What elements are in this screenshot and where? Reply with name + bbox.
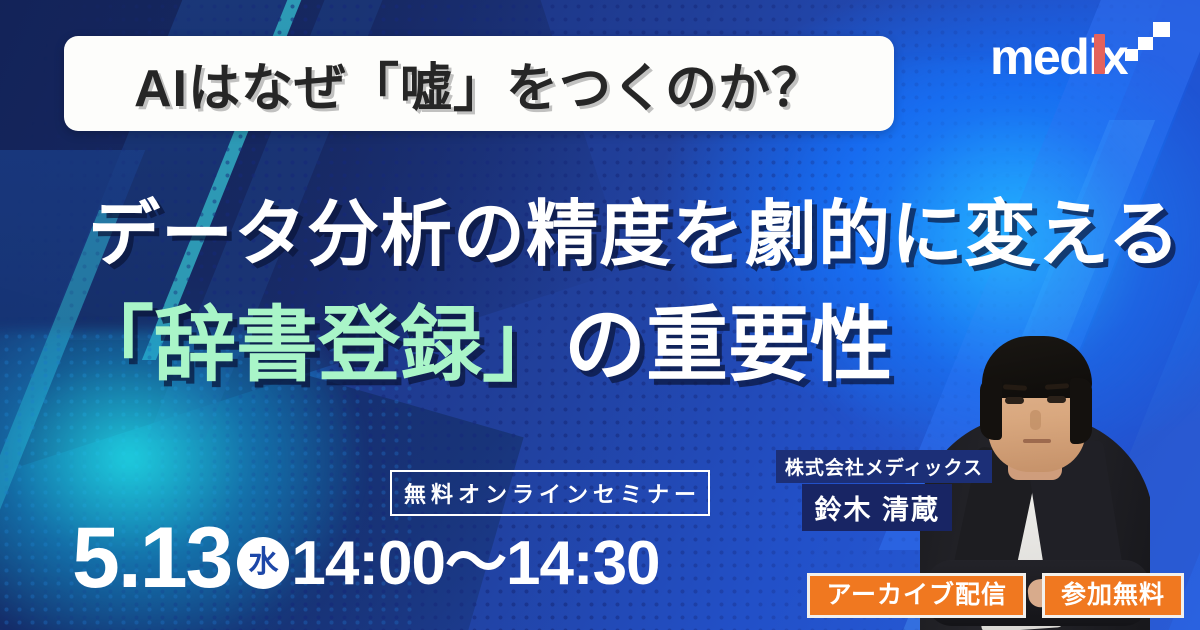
- speaker-name-label: 鈴木 清蔵: [802, 484, 952, 531]
- speaker-nose: [1030, 410, 1041, 430]
- weekday-badge: 水: [237, 537, 289, 589]
- event-date: 5.13: [72, 515, 231, 601]
- headline-line-3-suffix: の重要性: [564, 300, 892, 391]
- logo-wordmark: medix: [990, 32, 1127, 82]
- badge-row: アーカイブ配信 参加無料: [807, 573, 1184, 618]
- speaker-hair-side-left: [980, 378, 1002, 440]
- logo-i-accent-bar: [1094, 34, 1105, 74]
- speaker-hair-side-right: [1070, 378, 1092, 444]
- title-badge-text: AIはなぜ「嘘」をつくのか？: [134, 46, 824, 121]
- headline-line-2: データ分析の精度を劇的に変える: [88, 175, 1181, 280]
- event-date-time-row: 5.13 水 14:00〜14:30: [72, 515, 660, 601]
- logo-square-3: [1125, 49, 1138, 61]
- seminar-type-box: 無料オンラインセミナー: [390, 470, 710, 516]
- logo-square-1: [1153, 22, 1170, 37]
- webinar-banner: medix AIはなぜ「嘘」をつくのか？ データ分析の精度を劇的に変える 「辞書…: [0, 0, 1200, 630]
- seminar-type-label: 無料オンラインセミナー: [399, 477, 701, 509]
- logo-square-2: [1138, 37, 1153, 50]
- logo-stair-squares-icon: [1114, 22, 1170, 64]
- title-badge: AIはなぜ「嘘」をつくのか？: [64, 36, 894, 131]
- free-entry-badge: 参加無料: [1042, 573, 1184, 618]
- speaker-eye-right: [1047, 396, 1066, 403]
- archive-badge: アーカイブ配信: [807, 573, 1026, 618]
- speaker-mouth: [1023, 439, 1051, 443]
- headline-highlight-term: 「辞書登録」: [72, 300, 564, 391]
- speaker-eye-left: [1005, 397, 1024, 404]
- speaker-company-label: 株式会社メディックス: [776, 450, 992, 483]
- weekday-label: 水: [248, 548, 278, 578]
- headline-line-3: 「辞書登録」の重要性: [72, 278, 892, 397]
- event-time: 14:00〜14:30: [291, 533, 659, 595]
- medix-logo[interactable]: medix: [990, 22, 1170, 88]
